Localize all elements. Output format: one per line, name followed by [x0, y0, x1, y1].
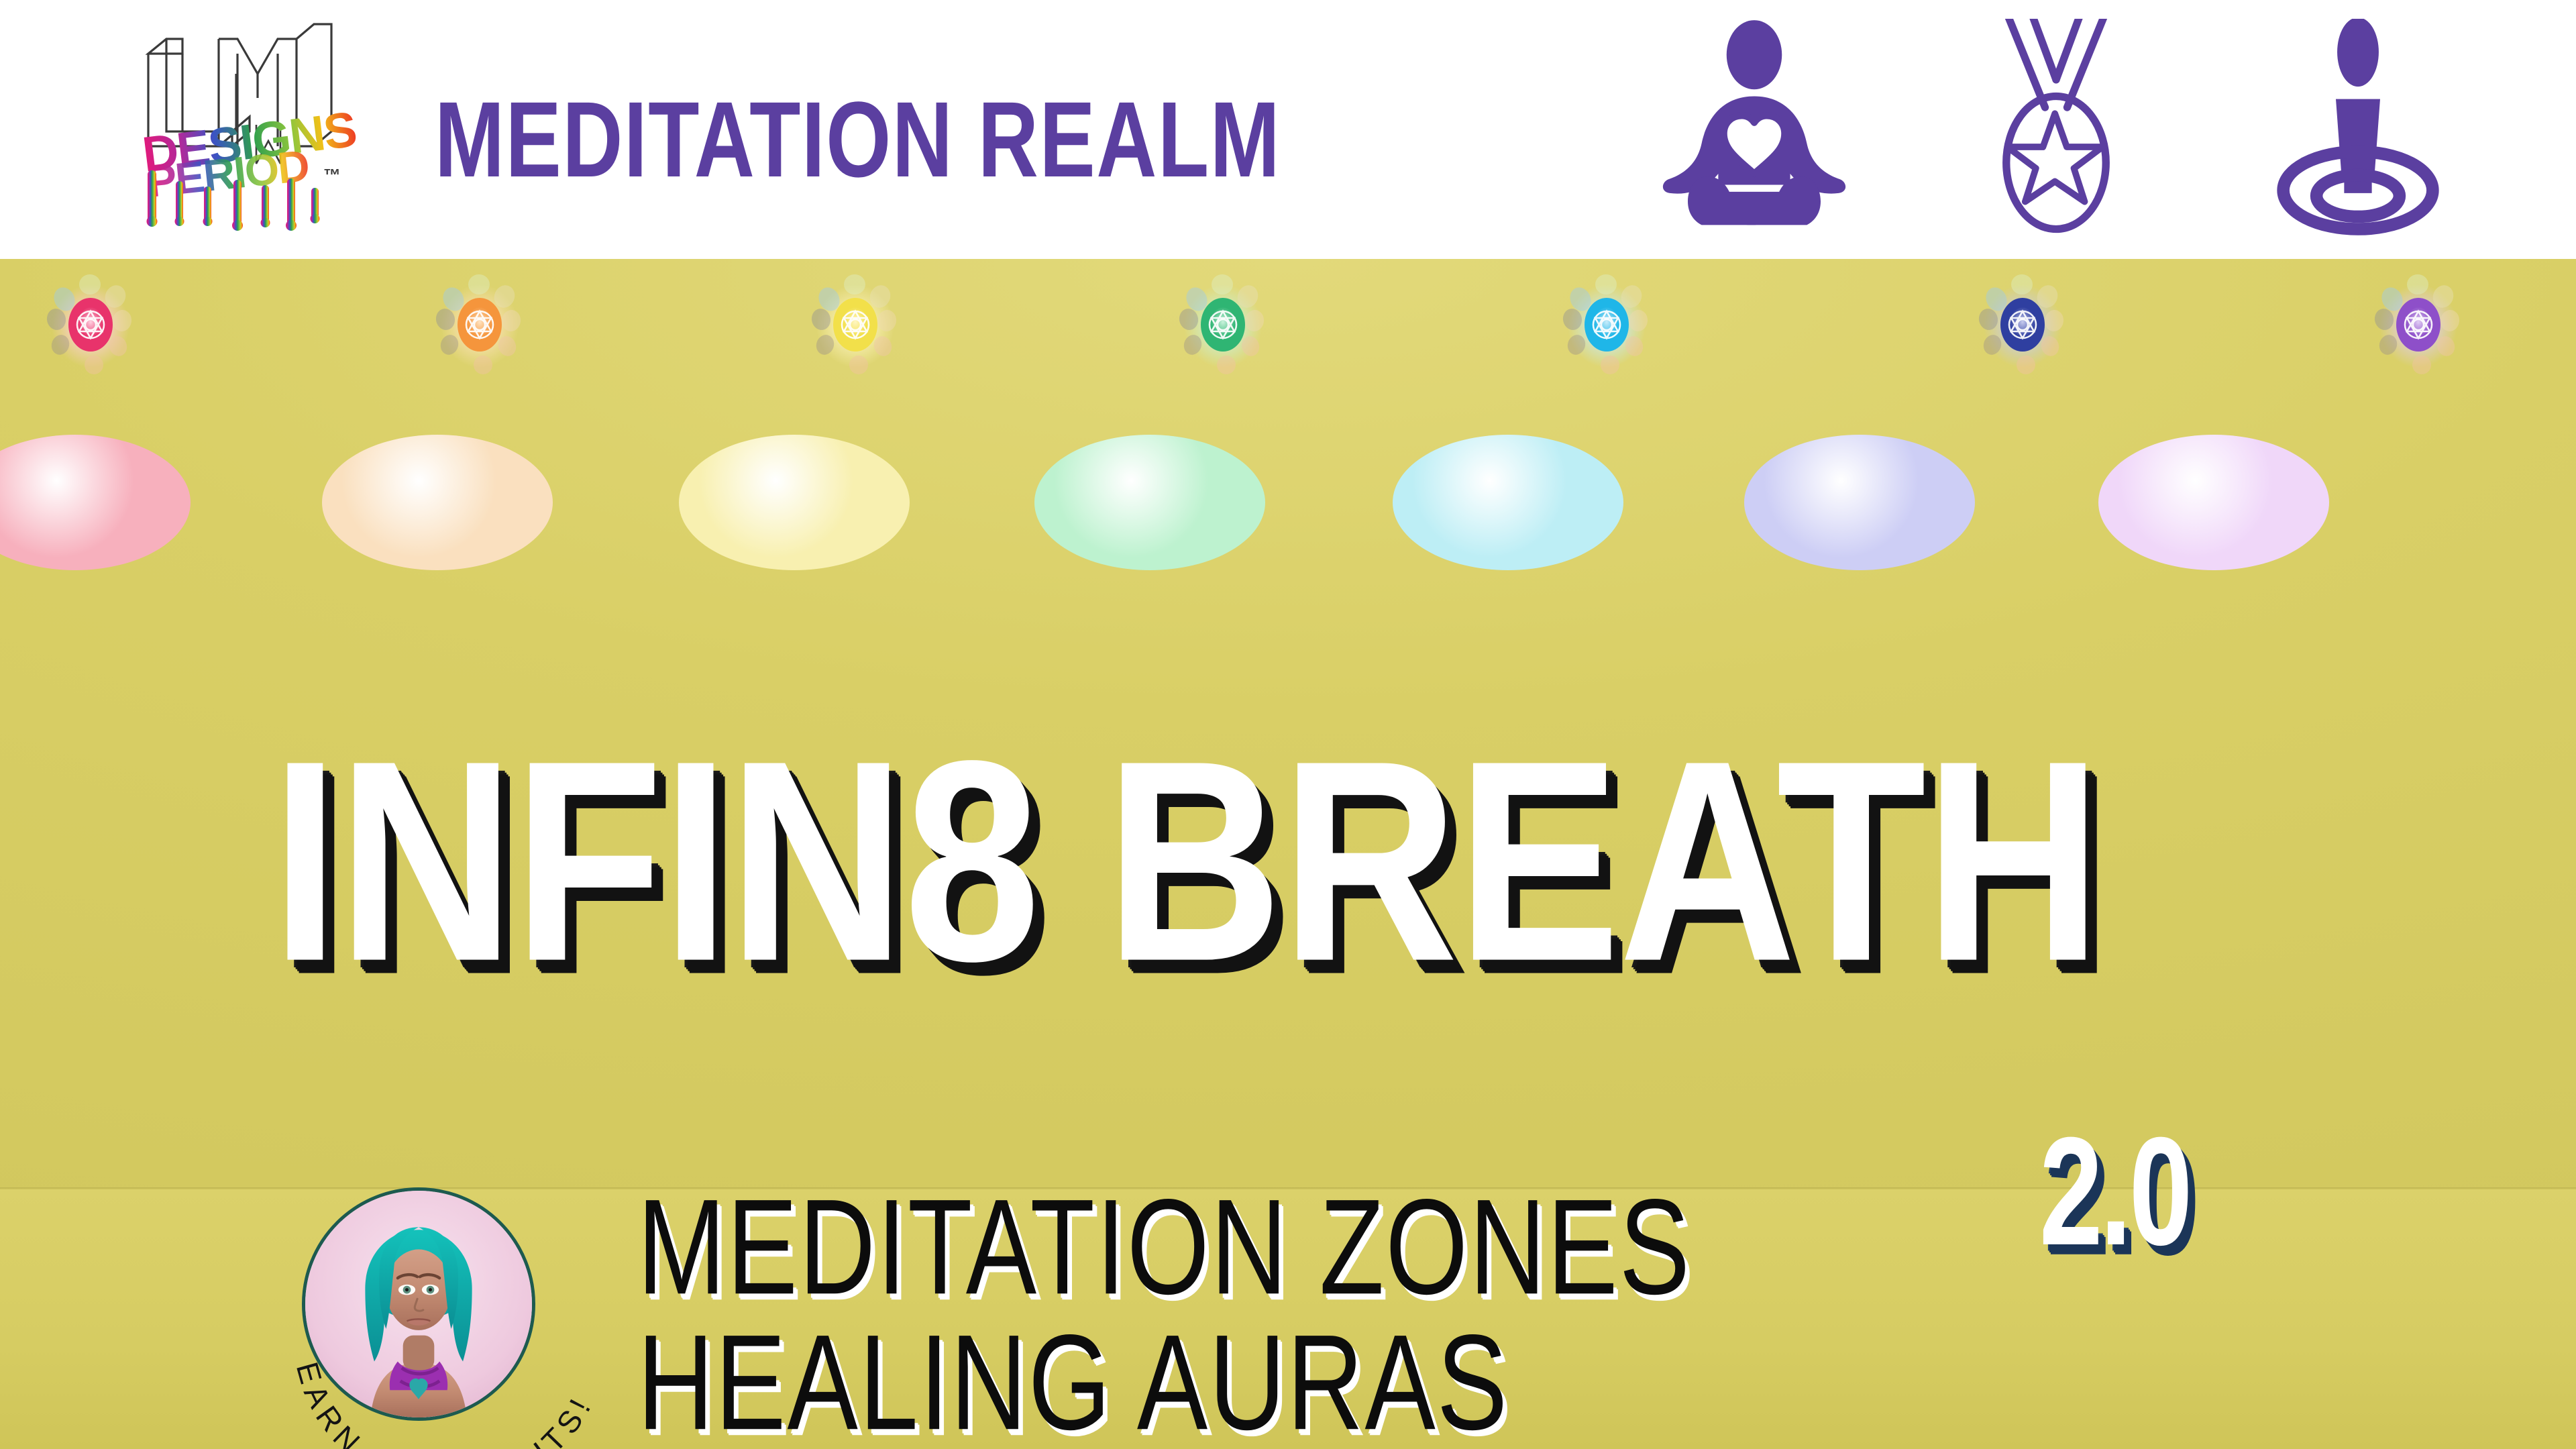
- logo-trademark-symbol: ™: [323, 165, 341, 185]
- third-eye-chakra-icon: [1972, 272, 2073, 376]
- lm-designs-logo[interactable]: DESIGNS PERIOD: [118, 12, 360, 247]
- crown-chakra-icon: [2368, 272, 2469, 376]
- hero-subtitle-block: MEDITATION ZONES HEALING AURAS: [637, 1179, 1691, 1449]
- banner-root: DESIGNS PERIOD: [0, 0, 2576, 1449]
- cushion-indigo: [1744, 435, 1975, 570]
- heart-chakra-icon: [1173, 272, 1273, 376]
- cushion-yellow: [679, 435, 910, 570]
- throat-chakra-icon: [1556, 272, 1657, 376]
- cushion-violet-top: [2098, 435, 2329, 570]
- cushion-cyan-top: [1393, 435, 1623, 570]
- root-chakra-icon: [40, 272, 141, 376]
- star-medal-icon[interactable]: [1939, 19, 2173, 240]
- cushion-green-top: [1034, 435, 1265, 570]
- hero-scene: INFIN8 BREATH 2.0 MEDITATION ZONES HEALI…: [0, 259, 2576, 1449]
- sacral-chakra-icon: [429, 272, 530, 376]
- cushion-orange-top: [322, 435, 553, 570]
- header-icon-group: [1637, 0, 2475, 259]
- cushion-green: [1034, 435, 1265, 570]
- cushion-red-top: [0, 435, 191, 570]
- subtitle-line-1: MEDITATION ZONES: [637, 1179, 1691, 1315]
- version-badge: 2.0: [2039, 1123, 2190, 1262]
- hero-title: INFIN8 BREATH: [271, 741, 2100, 981]
- solar-plexus-chakra-icon: [805, 272, 906, 376]
- subtitle-line-2: HEALING AURAS: [637, 1315, 1691, 1449]
- meditating-person-heart-icon[interactable]: [1637, 19, 1872, 240]
- cushion-red: [0, 435, 191, 570]
- cushion-violet: [2098, 435, 2329, 570]
- avatar-curved-caption: EARN LMDELIGHTS!: [274, 1163, 649, 1449]
- cushion-orange: [322, 435, 553, 570]
- earn-lmdelights-text: EARN LMDELIGHTS!: [290, 1358, 600, 1449]
- page-title: MEDITATION REALM: [435, 86, 1281, 193]
- cushion-yellow-top: [679, 435, 910, 570]
- page-header: DESIGNS PERIOD: [0, 0, 2576, 259]
- cushion-indigo-top: [1744, 435, 1975, 570]
- cushion-cyan: [1393, 435, 1623, 570]
- avatar-badge[interactable]: EARN LMDELIGHTS!: [274, 1163, 649, 1449]
- person-aura-ripples-icon[interactable]: [2241, 19, 2475, 240]
